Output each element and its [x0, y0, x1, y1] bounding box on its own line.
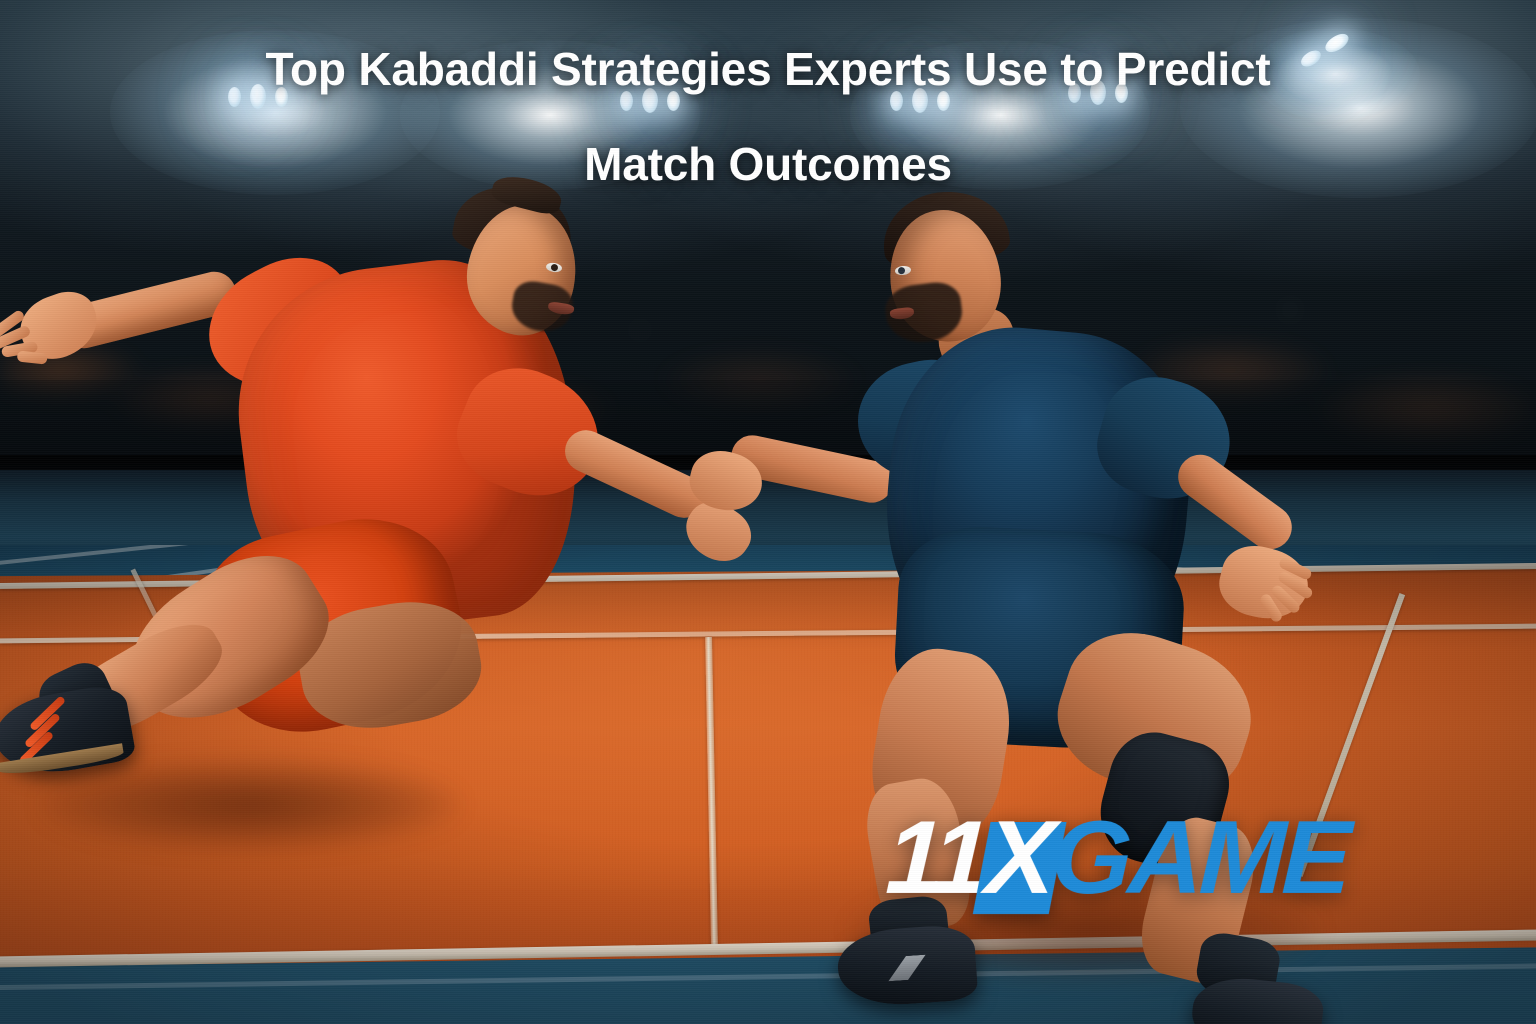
raider-finger	[17, 351, 48, 365]
kabaddi-banner: Top Kabaddi Strategies Experts Use to Pr…	[0, 0, 1536, 1024]
light-bulb	[642, 88, 658, 113]
light-fixture-3	[890, 88, 950, 113]
logo-text-11: 11	[884, 806, 988, 910]
logo-text-game: GAME	[1050, 806, 1350, 910]
light-fixture-2	[620, 88, 680, 113]
light-bulb	[275, 87, 288, 107]
light-flare-midleft	[400, 40, 700, 190]
light-flare-left	[110, 30, 440, 195]
light-bulb	[1115, 83, 1128, 103]
defender-right-hand	[1213, 538, 1315, 627]
player-raider-red	[0, 175, 700, 875]
light-flare-midright	[850, 40, 1150, 190]
brand-logo-11xgame[interactable]: 11 X GAME	[884, 806, 1349, 910]
light-fixture-1	[228, 84, 288, 109]
light-bulb	[250, 84, 266, 109]
light-bulb	[890, 91, 903, 111]
light-fixture-4	[1068, 80, 1128, 105]
light-bulb	[937, 91, 950, 111]
raider-left-hand	[12, 284, 107, 369]
light-bulb	[228, 87, 241, 107]
light-bulb	[1068, 83, 1081, 103]
light-bulb	[620, 91, 633, 111]
light-bulb	[912, 88, 928, 113]
defender-right-arm	[1169, 446, 1300, 558]
light-bulb	[667, 91, 680, 111]
logo-x-mark: X	[984, 806, 1053, 910]
logo-text-x: X	[984, 800, 1053, 916]
light-bulb	[1090, 80, 1106, 105]
